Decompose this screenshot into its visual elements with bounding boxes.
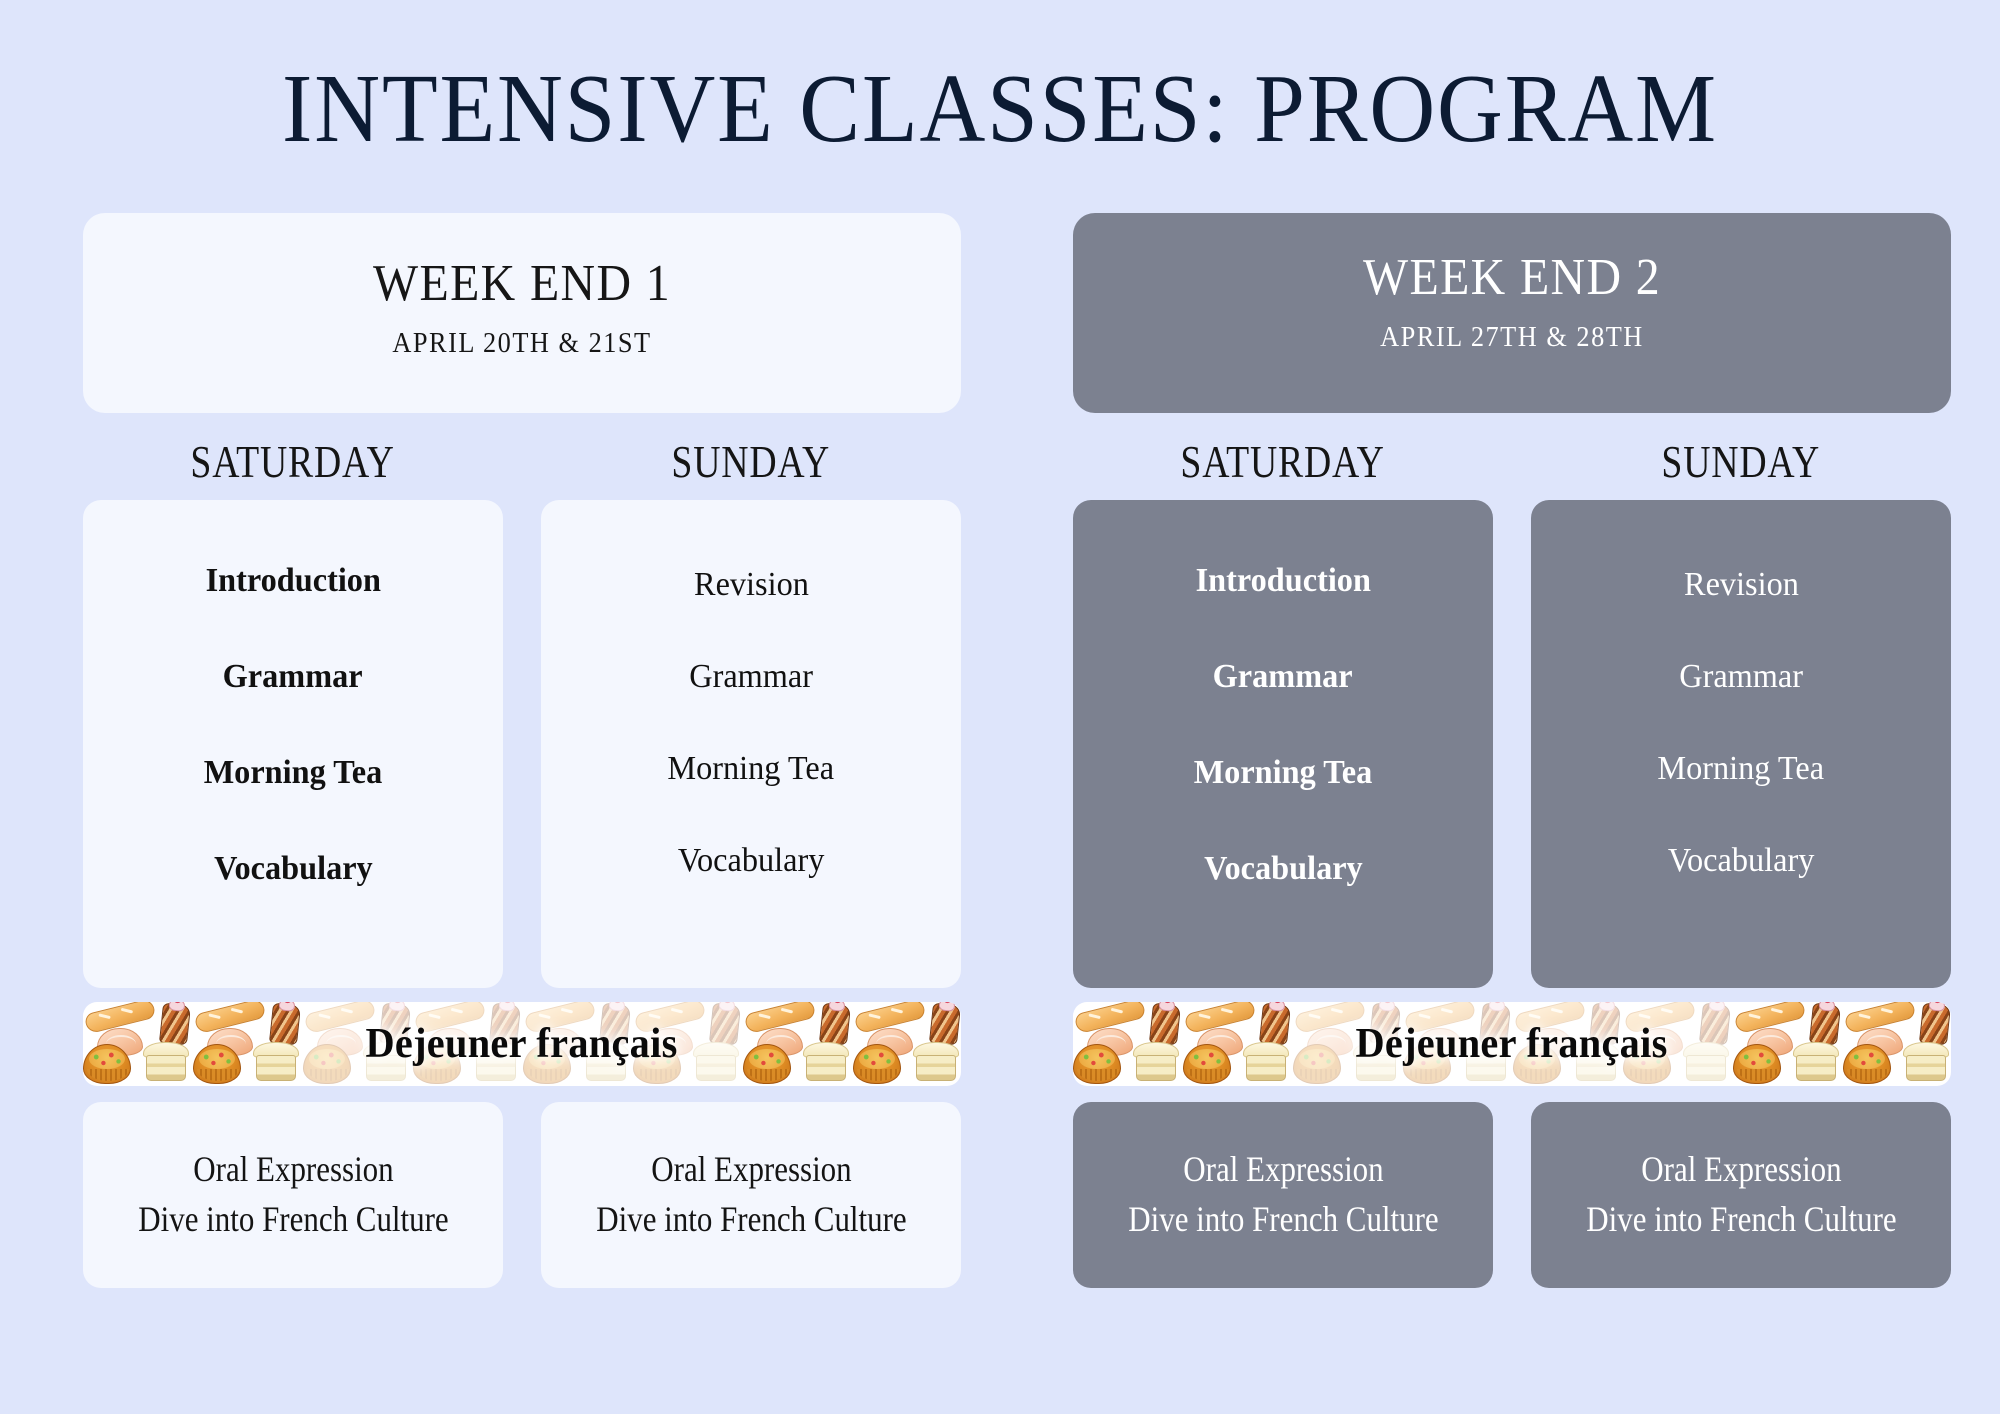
day-heading-sunday: SUNDAY bbox=[1531, 435, 1951, 488]
food-tile bbox=[1183, 1002, 1293, 1086]
cake-slice-icon bbox=[801, 1042, 851, 1084]
afternoon-line: Dive into French Culture bbox=[1586, 1201, 1896, 1239]
quiche-icon bbox=[1183, 1044, 1231, 1084]
baguette-icon bbox=[1184, 1002, 1257, 1034]
lunch-banner-1: Déjeuner français bbox=[83, 1002, 961, 1086]
quiche-icon bbox=[303, 1044, 351, 1084]
cake-slice-icon bbox=[1791, 1042, 1841, 1084]
quiche-icon bbox=[1733, 1044, 1781, 1084]
day-name-label: SATURDAY bbox=[1181, 435, 1385, 488]
food-tile bbox=[1733, 1002, 1843, 1086]
cake-slice-icon bbox=[691, 1042, 741, 1084]
lesson-card-saturday: Introduction Grammar Morning Tea Vocabul… bbox=[1073, 500, 1493, 988]
lesson-item: Vocabulary bbox=[1668, 844, 1815, 878]
tiramisu-icon bbox=[819, 1003, 851, 1046]
lesson-item: Grammar bbox=[1213, 660, 1353, 694]
tiramisu-icon bbox=[269, 1003, 301, 1046]
afternoon-line: Dive into French Culture bbox=[1128, 1201, 1438, 1239]
croissant-icon bbox=[1197, 1028, 1243, 1056]
lesson-item: Vocabulary bbox=[1204, 852, 1363, 886]
lesson-card-sunday: Revision Grammar Morning Tea Vocabulary bbox=[541, 500, 961, 988]
tiramisu-icon bbox=[1149, 1003, 1181, 1046]
weekend-title: WEEK END 2 bbox=[1127, 249, 1898, 306]
croissant-icon bbox=[1307, 1028, 1353, 1056]
afternoon-line: Dive into French Culture bbox=[596, 1201, 906, 1239]
quiche-icon bbox=[853, 1044, 901, 1084]
tiramisu-icon bbox=[1259, 1003, 1291, 1046]
afternoon-row-1: Oral Expression Dive into French Culture… bbox=[83, 1102, 961, 1288]
day-heading-row-2: SATURDAY SUNDAY bbox=[1073, 435, 1951, 488]
afternoon-line: Dive into French Culture bbox=[138, 1201, 448, 1239]
food-tile bbox=[83, 1002, 193, 1086]
tiramisu-icon bbox=[709, 1003, 741, 1046]
lesson-item: Morning Tea bbox=[668, 752, 835, 786]
baguette-icon bbox=[194, 1002, 267, 1034]
croissant-icon bbox=[317, 1028, 363, 1056]
afternoon-card-saturday: Oral Expression Dive into French Culture bbox=[83, 1102, 503, 1288]
food-tile bbox=[1843, 1002, 1951, 1086]
lesson-item: Revision bbox=[1684, 568, 1799, 602]
afternoon-card-sunday: Oral Expression Dive into French Culture bbox=[1531, 1102, 1951, 1288]
day-name-label: SUNDAY bbox=[672, 435, 831, 488]
weekend-column-1: WEEK END 1 APRIL 20TH & 21ST SATURDAY SU… bbox=[83, 213, 961, 1288]
cake-slice-icon bbox=[911, 1042, 961, 1084]
lesson-item: Morning Tea bbox=[1658, 752, 1825, 786]
lesson-item: Introduction bbox=[1195, 564, 1370, 598]
tiramisu-icon bbox=[1919, 1003, 1951, 1046]
lesson-item: Grammar bbox=[223, 660, 363, 694]
lesson-item: Morning Tea bbox=[204, 756, 383, 790]
day-heading-row-1: SATURDAY SUNDAY bbox=[83, 435, 961, 488]
lesson-item: Introduction bbox=[205, 564, 380, 598]
croissant-icon bbox=[1087, 1028, 1133, 1056]
lesson-item: Morning Tea bbox=[1194, 756, 1373, 790]
lunch-label: Déjeuner français bbox=[366, 1020, 678, 1068]
food-tile bbox=[853, 1002, 961, 1086]
weekend-column-2: WEEK END 2 APRIL 27TH & 28TH SATURDAY SU… bbox=[1073, 213, 1951, 1288]
lesson-card-sunday: Revision Grammar Morning Tea Vocabulary bbox=[1531, 500, 1951, 988]
baguette-icon bbox=[84, 1002, 157, 1034]
croissant-icon bbox=[1857, 1028, 1903, 1056]
baguette-icon bbox=[1074, 1002, 1147, 1034]
quiche-icon bbox=[1293, 1044, 1341, 1084]
afternoon-line: Oral Expression bbox=[1183, 1151, 1383, 1189]
weekend-dates: APRIL 27TH & 28TH bbox=[1118, 322, 1906, 354]
weekend-header-1: WEEK END 1 APRIL 20TH & 21ST bbox=[83, 213, 961, 413]
croissant-icon bbox=[207, 1028, 253, 1056]
food-tile bbox=[1073, 1002, 1183, 1086]
croissant-icon bbox=[1747, 1028, 1793, 1056]
cake-slice-icon bbox=[1901, 1042, 1951, 1084]
page-title: INTENSIVE CLASSES: PROGRAM bbox=[70, 58, 1930, 161]
baguette-icon bbox=[744, 1002, 817, 1034]
lesson-row-1: Introduction Grammar Morning Tea Vocabul… bbox=[83, 500, 961, 988]
afternoon-line: Oral Expression bbox=[1641, 1151, 1841, 1189]
cake-slice-icon bbox=[251, 1042, 301, 1084]
lesson-item: Grammar bbox=[689, 660, 813, 694]
quiche-icon bbox=[1843, 1044, 1891, 1084]
day-heading-saturday: SATURDAY bbox=[1073, 435, 1493, 488]
cake-slice-icon bbox=[1131, 1042, 1181, 1084]
baguette-icon bbox=[1734, 1002, 1807, 1034]
afternoon-row-2: Oral Expression Dive into French Culture… bbox=[1073, 1102, 1951, 1288]
tiramisu-icon bbox=[159, 1003, 191, 1046]
weekend-title: WEEK END 1 bbox=[137, 255, 908, 312]
lesson-item: Grammar bbox=[1679, 660, 1803, 694]
afternoon-line: Oral Expression bbox=[651, 1151, 851, 1189]
croissant-icon bbox=[97, 1028, 143, 1056]
quiche-icon bbox=[1073, 1044, 1121, 1084]
food-tile bbox=[193, 1002, 303, 1086]
lunch-banner-2: Déjeuner français bbox=[1073, 1002, 1951, 1086]
tiramisu-icon bbox=[1809, 1003, 1841, 1046]
afternoon-card-saturday: Oral Expression Dive into French Culture bbox=[1073, 1102, 1493, 1288]
lesson-item: Vocabulary bbox=[678, 844, 825, 878]
weekend-header-2: WEEK END 2 APRIL 27TH & 28TH bbox=[1073, 213, 1951, 413]
day-name-label: SUNDAY bbox=[1662, 435, 1821, 488]
cake-slice-icon bbox=[141, 1042, 191, 1084]
quiche-icon bbox=[83, 1044, 131, 1084]
baguette-icon bbox=[854, 1002, 927, 1034]
day-heading-saturday: SATURDAY bbox=[83, 435, 503, 488]
lunch-label: Déjeuner français bbox=[1356, 1020, 1668, 1068]
quiche-icon bbox=[743, 1044, 791, 1084]
tiramisu-icon bbox=[929, 1003, 961, 1046]
weekend-dates: APRIL 20TH & 21ST bbox=[128, 328, 916, 360]
quiche-icon bbox=[193, 1044, 241, 1084]
day-heading-sunday: SUNDAY bbox=[541, 435, 961, 488]
food-tile bbox=[743, 1002, 853, 1086]
cake-slice-icon bbox=[1681, 1042, 1731, 1084]
lesson-row-2: Introduction Grammar Morning Tea Vocabul… bbox=[1073, 500, 1951, 988]
day-name-label: SATURDAY bbox=[191, 435, 395, 488]
program-poster: INTENSIVE CLASSES: PROGRAM WEEK END 1 AP… bbox=[0, 0, 2000, 1414]
lesson-item: Revision bbox=[694, 568, 809, 602]
lesson-item: Vocabulary bbox=[214, 852, 373, 886]
afternoon-line: Oral Expression bbox=[193, 1151, 393, 1189]
afternoon-card-sunday: Oral Expression Dive into French Culture bbox=[541, 1102, 961, 1288]
lesson-card-saturday: Introduction Grammar Morning Tea Vocabul… bbox=[83, 500, 503, 988]
baguette-icon bbox=[1844, 1002, 1917, 1034]
croissant-icon bbox=[867, 1028, 913, 1056]
tiramisu-icon bbox=[1699, 1003, 1731, 1046]
croissant-icon bbox=[757, 1028, 803, 1056]
cake-slice-icon bbox=[1241, 1042, 1291, 1084]
